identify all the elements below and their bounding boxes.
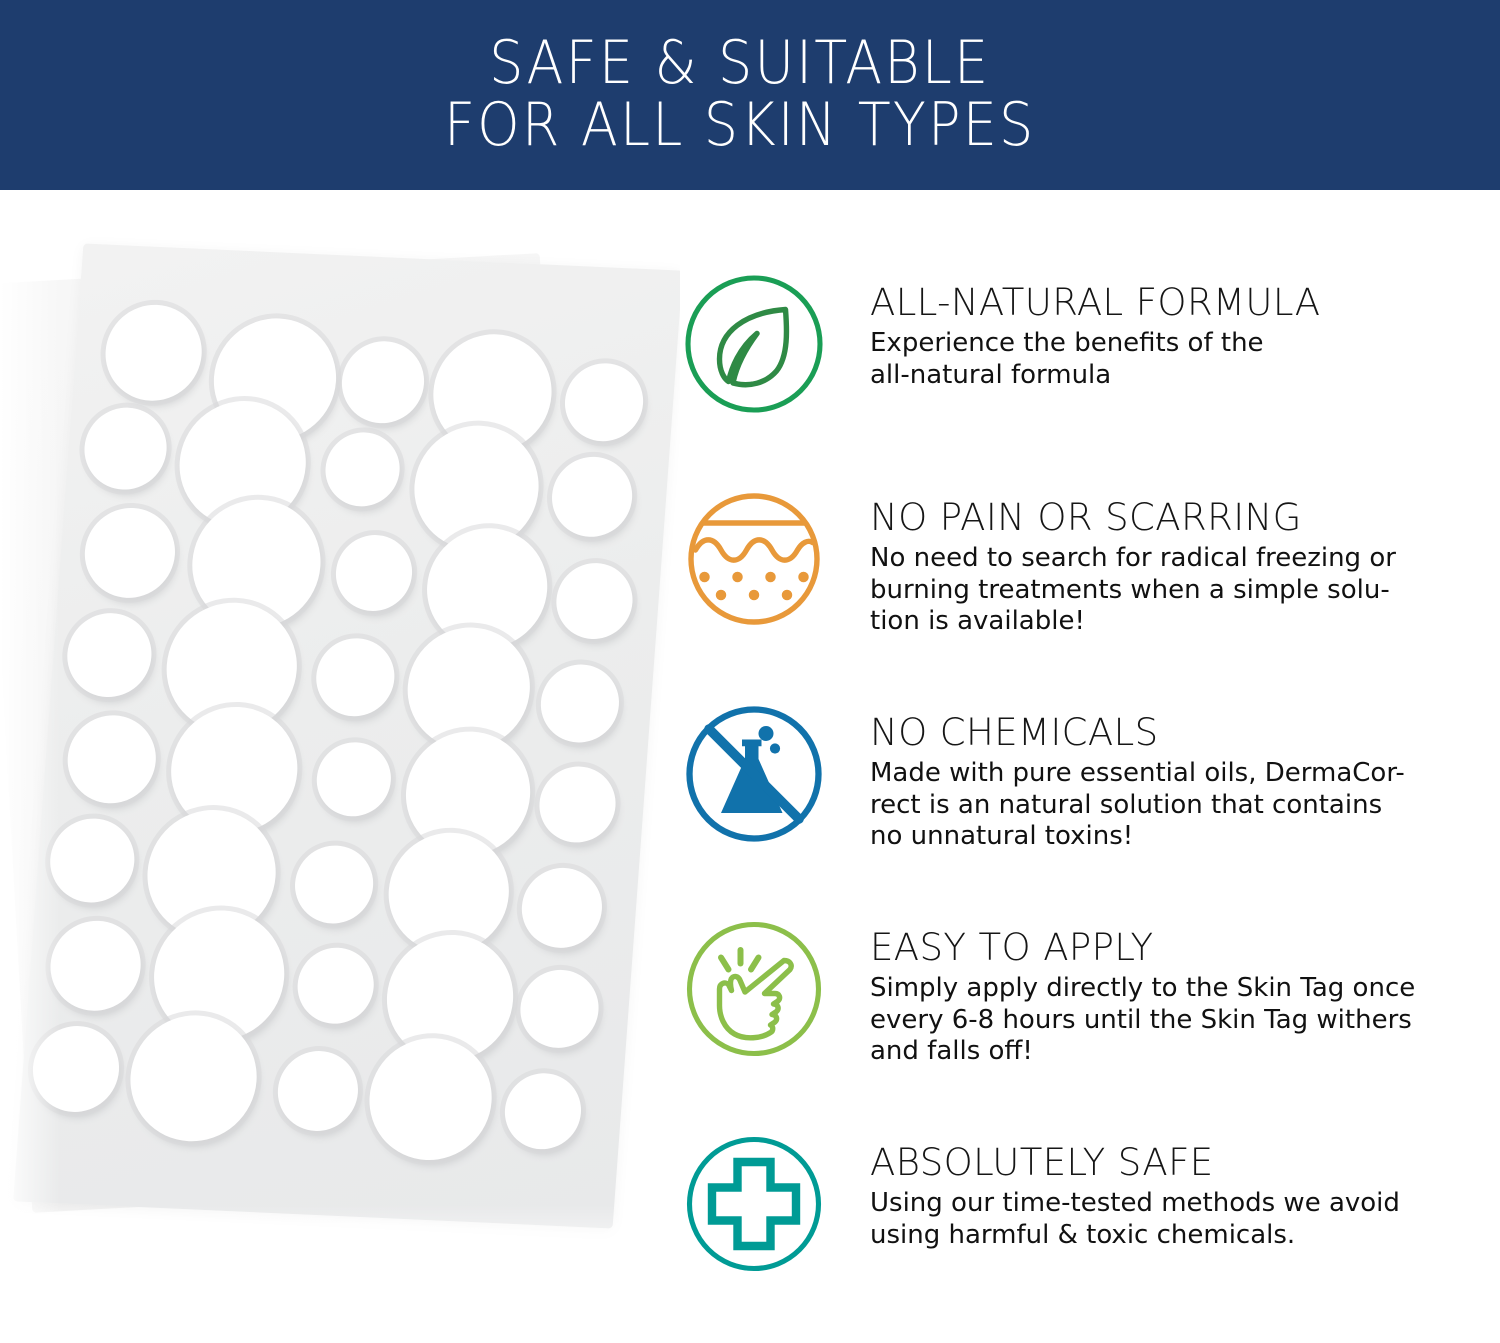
feature-body-line: burning treatments when a simple solu- (870, 575, 1478, 607)
feature-body-line: Simply apply directly to the Skin Tag on… (870, 973, 1478, 1005)
image-edge-fade-bottom (0, 1205, 680, 1295)
feature-body-line: using harmful & toxic chemicals. (870, 1220, 1478, 1252)
skin-pores-icon (678, 483, 830, 635)
patch-circle (549, 455, 635, 538)
feature-body-line: no unnatural toxins! (870, 821, 1478, 853)
feature-item-no-pain-or-scarring: NO PAIN OR SCARRING No need to search fo… (678, 483, 1478, 698)
patch-circle (275, 1049, 361, 1132)
feature-body: Experience the benefits of the all-natur… (870, 328, 1478, 391)
feature-heading: ALL-NATURAL FORMULA (870, 284, 1478, 321)
feature-body-line: Made with pure essential oils, DermaCor- (870, 758, 1478, 790)
patch-circle (295, 946, 376, 1025)
header-banner: SAFE & SUITABLE FOR ALL SKIN TYPES (0, 0, 1500, 190)
patch-circle (554, 561, 635, 640)
patch-circle (82, 506, 179, 600)
patch-circle (292, 844, 376, 925)
tap-hand-icon (678, 913, 830, 1065)
no-chemicals-icon (678, 698, 830, 850)
feature-heading: NO PAIN OR SCARRING (870, 499, 1478, 536)
patch-circle (323, 431, 402, 508)
feature-body-line: No need to search for radical freezing o… (870, 543, 1478, 575)
patch-circle (47, 919, 144, 1013)
feature-text-block: NO PAIN OR SCARRING No need to search fo… (830, 483, 1478, 638)
feature-heading: NO CHEMICALS (870, 714, 1478, 751)
feature-item-easy-to-apply: EASY TO APPLY Simply apply directly to t… (678, 913, 1478, 1128)
patch-circle (333, 533, 414, 612)
feature-heading: ABSOLUTELY SAFE (870, 1144, 1478, 1181)
feature-text-block: EASY TO APPLY Simply apply directly to t… (830, 913, 1478, 1068)
medical-cross-icon (678, 1128, 830, 1280)
patch-grid (13, 243, 680, 1228)
patch-circle (518, 968, 602, 1049)
patch-circle (47, 817, 137, 905)
patch-circle (102, 303, 205, 403)
page-title: SAFE & SUITABLE FOR ALL SKIN TYPES (444, 33, 1055, 157)
feature-body-line: Experience the benefits of the (870, 328, 1478, 360)
patch-circle (538, 663, 622, 744)
feature-list: ALL-NATURAL FORMULA Experience the benef… (678, 268, 1478, 1343)
feature-body: Made with pure essential oils, DermaCor-… (870, 758, 1478, 853)
patch-circle (64, 611, 154, 699)
feature-item-absolutely-safe: ABSOLUTELY SAFE Using our time-tested me… (678, 1128, 1478, 1343)
product-image (0, 190, 680, 1295)
feature-body-line: every 6-8 hours until the Skin Tag withe… (870, 1005, 1478, 1037)
image-edge-fade-left (0, 190, 60, 1295)
patch-circle (65, 713, 159, 805)
patch-circle (519, 866, 605, 949)
patch-circle (314, 637, 398, 718)
feature-item-no-chemicals: NO CHEMICALS Made with pure essential oi… (678, 698, 1478, 913)
feature-body-line: tion is available! (870, 606, 1478, 638)
feature-text-block: ABSOLUTELY SAFE Using our time-tested me… (830, 1128, 1478, 1251)
page-title-line-2: FOR ALL SKIN TYPES (444, 95, 1036, 157)
patch-circle (82, 406, 170, 492)
feature-body: No need to search for radical freezing o… (870, 543, 1478, 638)
patch-circle (365, 1035, 496, 1162)
patch-circle (562, 362, 646, 443)
feature-text-block: NO CHEMICALS Made with pure essential oi… (830, 698, 1478, 853)
feature-body: Using our time-tested methods we avoid u… (870, 1188, 1478, 1251)
patch-circle (537, 765, 618, 844)
feature-body-line: rect is an natural solution that contain… (870, 790, 1478, 822)
feature-text-block: ALL-NATURAL FORMULA Experience the benef… (830, 268, 1478, 391)
patch-circle (314, 741, 393, 818)
page-title-line-1: SAFE & SUITABLE (444, 33, 1036, 95)
feature-body-line: Using our time-tested methods we avoid (870, 1188, 1478, 1220)
feature-item-all-natural-formula: ALL-NATURAL FORMULA Experience the benef… (678, 268, 1478, 483)
feature-heading: EASY TO APPLY (870, 929, 1478, 966)
feature-body-line: all-natural formula (870, 360, 1478, 392)
patch-circle (339, 339, 427, 425)
feature-body-line: and falls off! (870, 1036, 1478, 1068)
leaf-icon (678, 268, 830, 420)
feature-body: Simply apply directly to the Skin Tag on… (870, 973, 1478, 1068)
patch-circle (502, 1072, 583, 1151)
